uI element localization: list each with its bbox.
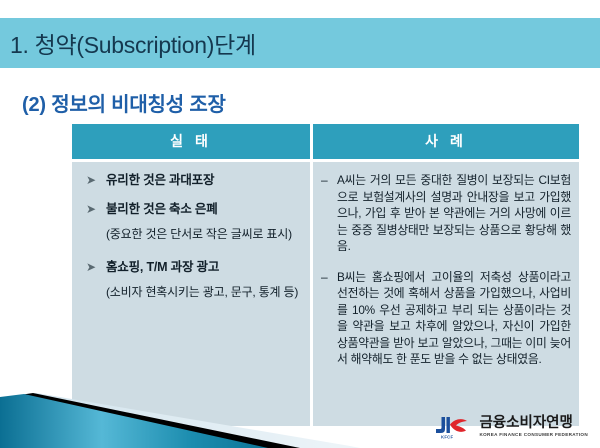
list-item: ➤ 홈쇼핑, T/M 과장 광고 (소비자 현혹시키는 광고, 문구, 통계 등… xyxy=(80,259,302,301)
arrow-bullet-icon: ➤ xyxy=(80,259,106,276)
status-item-label: 홈쇼핑, T/M 과장 광고 xyxy=(106,259,302,276)
dash-bullet-icon: – xyxy=(321,269,337,286)
table-cell-status: ➤ 유리한 것은 과대포장 ➤ 불리한 것은 축소 은폐 (중요한 것은 단서로… xyxy=(72,162,313,426)
table-cell-example: – A씨는 거의 모든 중대한 질병이 보장되는 CI보험으로 보험설계사의 설… xyxy=(313,162,579,426)
list-item: ➤ 불리한 것은 축소 은폐 (중요한 것은 단서로 작은 글씨로 표시) xyxy=(80,201,302,243)
status-item-note: (중요한 것은 단서로 작은 글씨로 표시) xyxy=(106,226,302,243)
example-item-text: B씨는 홈쇼핑에서 고이율의 저축성 상품이라고 선전하는 것에 혹해서 상품을… xyxy=(337,269,571,368)
table-body: ➤ 유리한 것은 과대포장 ➤ 불리한 것은 축소 은폐 (중요한 것은 단서로… xyxy=(72,162,579,426)
list-item: – A씨는 거의 모든 중대한 질병이 보장되는 CI보험으로 보험설계사의 설… xyxy=(321,172,571,255)
footer-logo: KFCF 금융소비자연맹 KOREA FINANCE CONSUMER FEDE… xyxy=(433,414,588,440)
table-header-cell-status: 실 태 xyxy=(72,124,313,162)
logo-english-name: KOREA FINANCE CONSUMER FEDERATION xyxy=(479,433,588,438)
arrow-bullet-icon: ➤ xyxy=(80,172,106,189)
status-bullet-2: ➤ 홈쇼핑, T/M 과장 광고 xyxy=(80,259,302,276)
status-item-label: 유리한 것은 과대포장 xyxy=(106,172,302,189)
example-list: – A씨는 거의 모든 중대한 질병이 보장되는 CI보험으로 보험설계사의 설… xyxy=(321,172,571,368)
logo-wordmark: 금융소비자연맹 KOREA FINANCE CONSUMER FEDERATIO… xyxy=(479,416,588,438)
list-item: ➤ 유리한 것은 과대포장 xyxy=(80,172,302,189)
arrow-bullet-icon: ➤ xyxy=(80,201,106,218)
table-header: 실 태 사 례 xyxy=(72,124,579,162)
section-subtitle: (2) 정보의 비대칭성 조장 xyxy=(22,88,226,117)
dash-bullet-icon: – xyxy=(321,172,337,189)
presentation-slide: 1. 청약(Subscription)단계 (2) 정보의 비대칭성 조장 실 … xyxy=(0,0,600,448)
status-list: ➤ 유리한 것은 과대포장 ➤ 불리한 것은 축소 은폐 (중요한 것은 단서로… xyxy=(80,172,302,301)
table-header-cell-example: 사 례 xyxy=(313,124,579,162)
status-item-label: 불리한 것은 축소 은폐 xyxy=(106,201,302,218)
status-item-note: (소비자 현혹시키는 광고, 문구, 통계 등) xyxy=(106,284,302,301)
kfcf-logo-icon: KFCF xyxy=(433,414,473,440)
example-item-text: A씨는 거의 모든 중대한 질병이 보장되는 CI보험으로 보험설계사의 설명과… xyxy=(337,172,571,255)
status-bullet-0: ➤ 유리한 것은 과대포장 xyxy=(80,172,302,189)
table-header-row: 실 태 사 례 xyxy=(72,124,579,162)
content-table: 실 태 사 례 ➤ 유리한 것은 과대포장 xyxy=(72,124,579,426)
logo-korean-name: 금융소비자연맹 xyxy=(479,416,588,431)
page-title: 1. 청약(Subscription)단계 xyxy=(10,26,256,60)
list-item: – B씨는 홈쇼핑에서 고이율의 저축성 상품이라고 선전하는 것에 혹해서 상… xyxy=(321,269,571,368)
status-bullet-1: ➤ 불리한 것은 축소 은폐 xyxy=(80,201,302,218)
table-row: ➤ 유리한 것은 과대포장 ➤ 불리한 것은 축소 은폐 (중요한 것은 단서로… xyxy=(72,162,579,426)
svg-text:KFCF: KFCF xyxy=(441,435,454,440)
